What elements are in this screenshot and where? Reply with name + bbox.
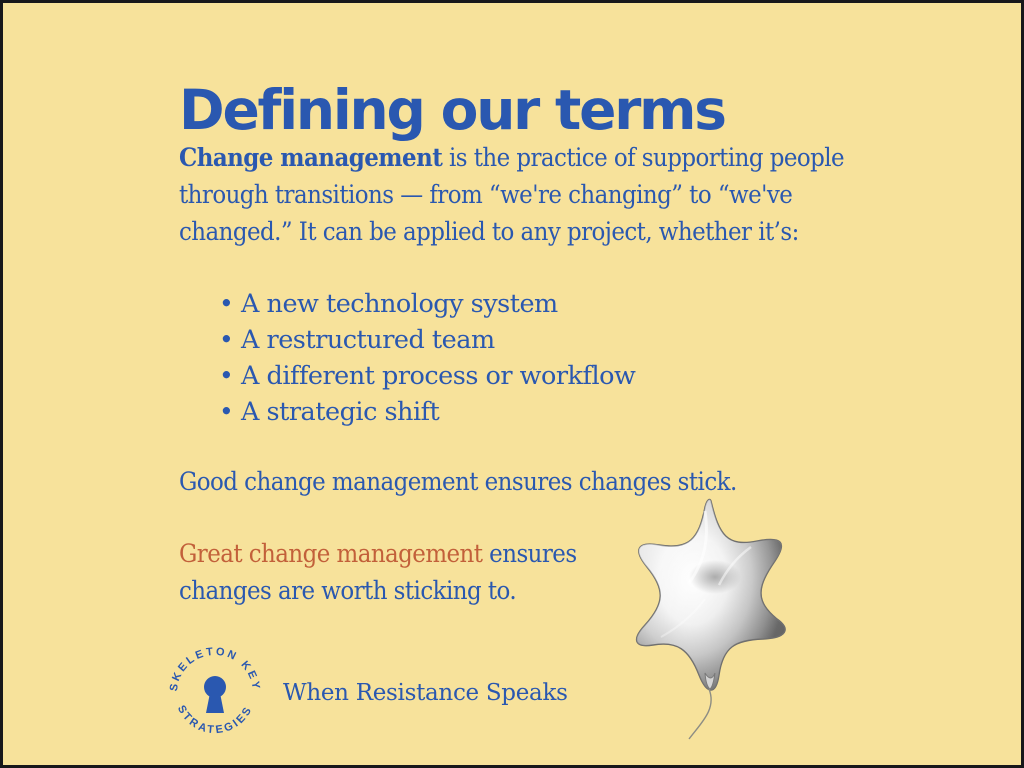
intro-paragraph: Change management is the practice of sup…	[179, 140, 869, 251]
list-item-label: A restructured team	[241, 325, 495, 355]
intro-lead-term: Change management	[179, 143, 442, 173]
list-item-label: A strategic shift	[241, 397, 439, 427]
keyhole-icon	[204, 676, 226, 713]
footer: SKELETON KEY STRATEGIES When Resistance …	[163, 641, 568, 745]
bullet-dot-icon: •	[219, 286, 233, 322]
footer-tagline: When Resistance Speaks	[283, 680, 568, 706]
examples-list: • A new technology system • A restructur…	[211, 286, 635, 430]
balloon-string	[689, 689, 711, 739]
list-item-label: A different process or workflow	[241, 361, 635, 391]
brand-logo[interactable]: SKELETON KEY STRATEGIES	[163, 641, 267, 745]
list-item: • A different process or workflow	[241, 358, 635, 394]
silver-star-balloon	[631, 495, 791, 745]
list-item: • A restructured team	[241, 322, 635, 358]
great-statement-accent: Great change management	[179, 539, 482, 569]
list-item-label: A new technology system	[241, 289, 558, 319]
bullet-dot-icon: •	[219, 358, 233, 394]
slide-canvas: Defining our terms Change management is …	[0, 0, 1024, 768]
page-title: Defining our terms	[179, 82, 725, 140]
bullet-dot-icon: •	[219, 394, 233, 430]
good-statement: Good change management ensures changes s…	[179, 464, 879, 501]
list-item: • A new technology system	[241, 286, 635, 322]
great-statement: Great change management ensures changes …	[179, 536, 649, 610]
balloon-valve	[705, 673, 715, 689]
list-item: • A strategic shift	[241, 394, 635, 430]
bullet-dot-icon: •	[219, 322, 233, 358]
balloon-star-shape	[637, 499, 785, 690]
